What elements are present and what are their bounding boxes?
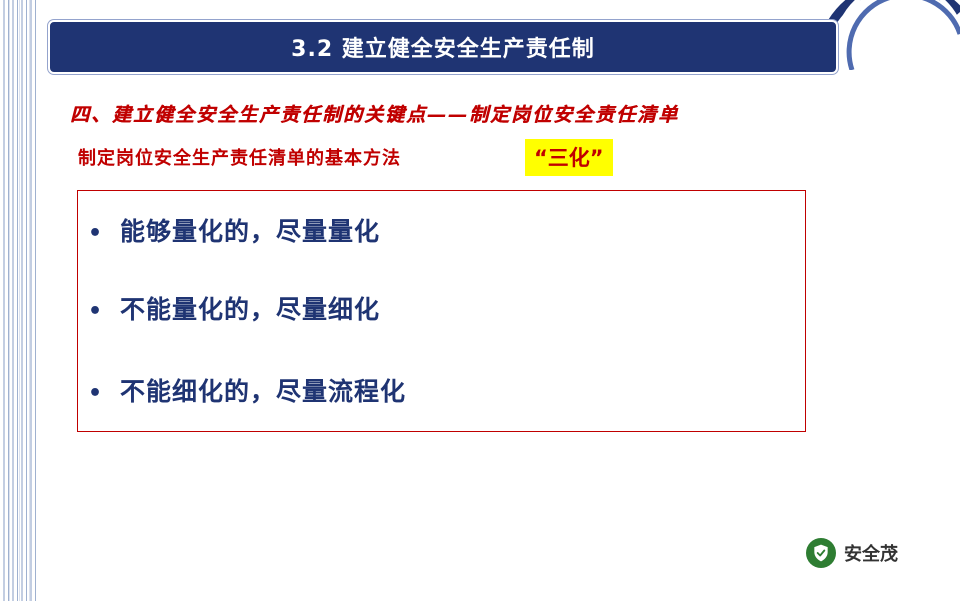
slide-title-bar: 3.2 建立健全安全生产责任制 (48, 20, 838, 74)
list-item: • 能够量化的，尽量量化 (88, 212, 380, 248)
footer-brand: 安全茂 (806, 538, 898, 568)
brand-name-label: 安全茂 (844, 540, 898, 566)
bullet-icon: • (88, 221, 120, 246)
list-item: • 不能细化的，尽量流程化 (88, 372, 406, 408)
section-heading-secondary: 制定岗位安全生产责任清单的基本方法 (78, 144, 401, 170)
list-item-label: 不能量化的，尽量细化 (120, 290, 380, 326)
shield-check-icon (806, 538, 836, 568)
bullet-icon: • (88, 381, 120, 406)
list-item: • 不能量化的，尽量细化 (88, 290, 380, 326)
list-item-label: 能够量化的，尽量量化 (120, 212, 380, 248)
highlight-badge: “三化” (525, 139, 613, 176)
vertical-stripes-decoration (0, 0, 38, 601)
list-item-label: 不能细化的，尽量流程化 (120, 372, 406, 408)
bullet-icon: • (88, 299, 120, 324)
page-title: 3.2 建立健全安全生产责任制 (291, 31, 595, 63)
slide-canvas: 3.2 建立健全安全生产责任制 四、建立健全安全生产责任制的关键点——制定岗位安… (0, 0, 960, 601)
vertical-stripes-overlay (0, 0, 38, 601)
section-heading-primary: 四、建立健全安全生产责任制的关键点——制定岗位安全责任清单 (70, 100, 870, 127)
